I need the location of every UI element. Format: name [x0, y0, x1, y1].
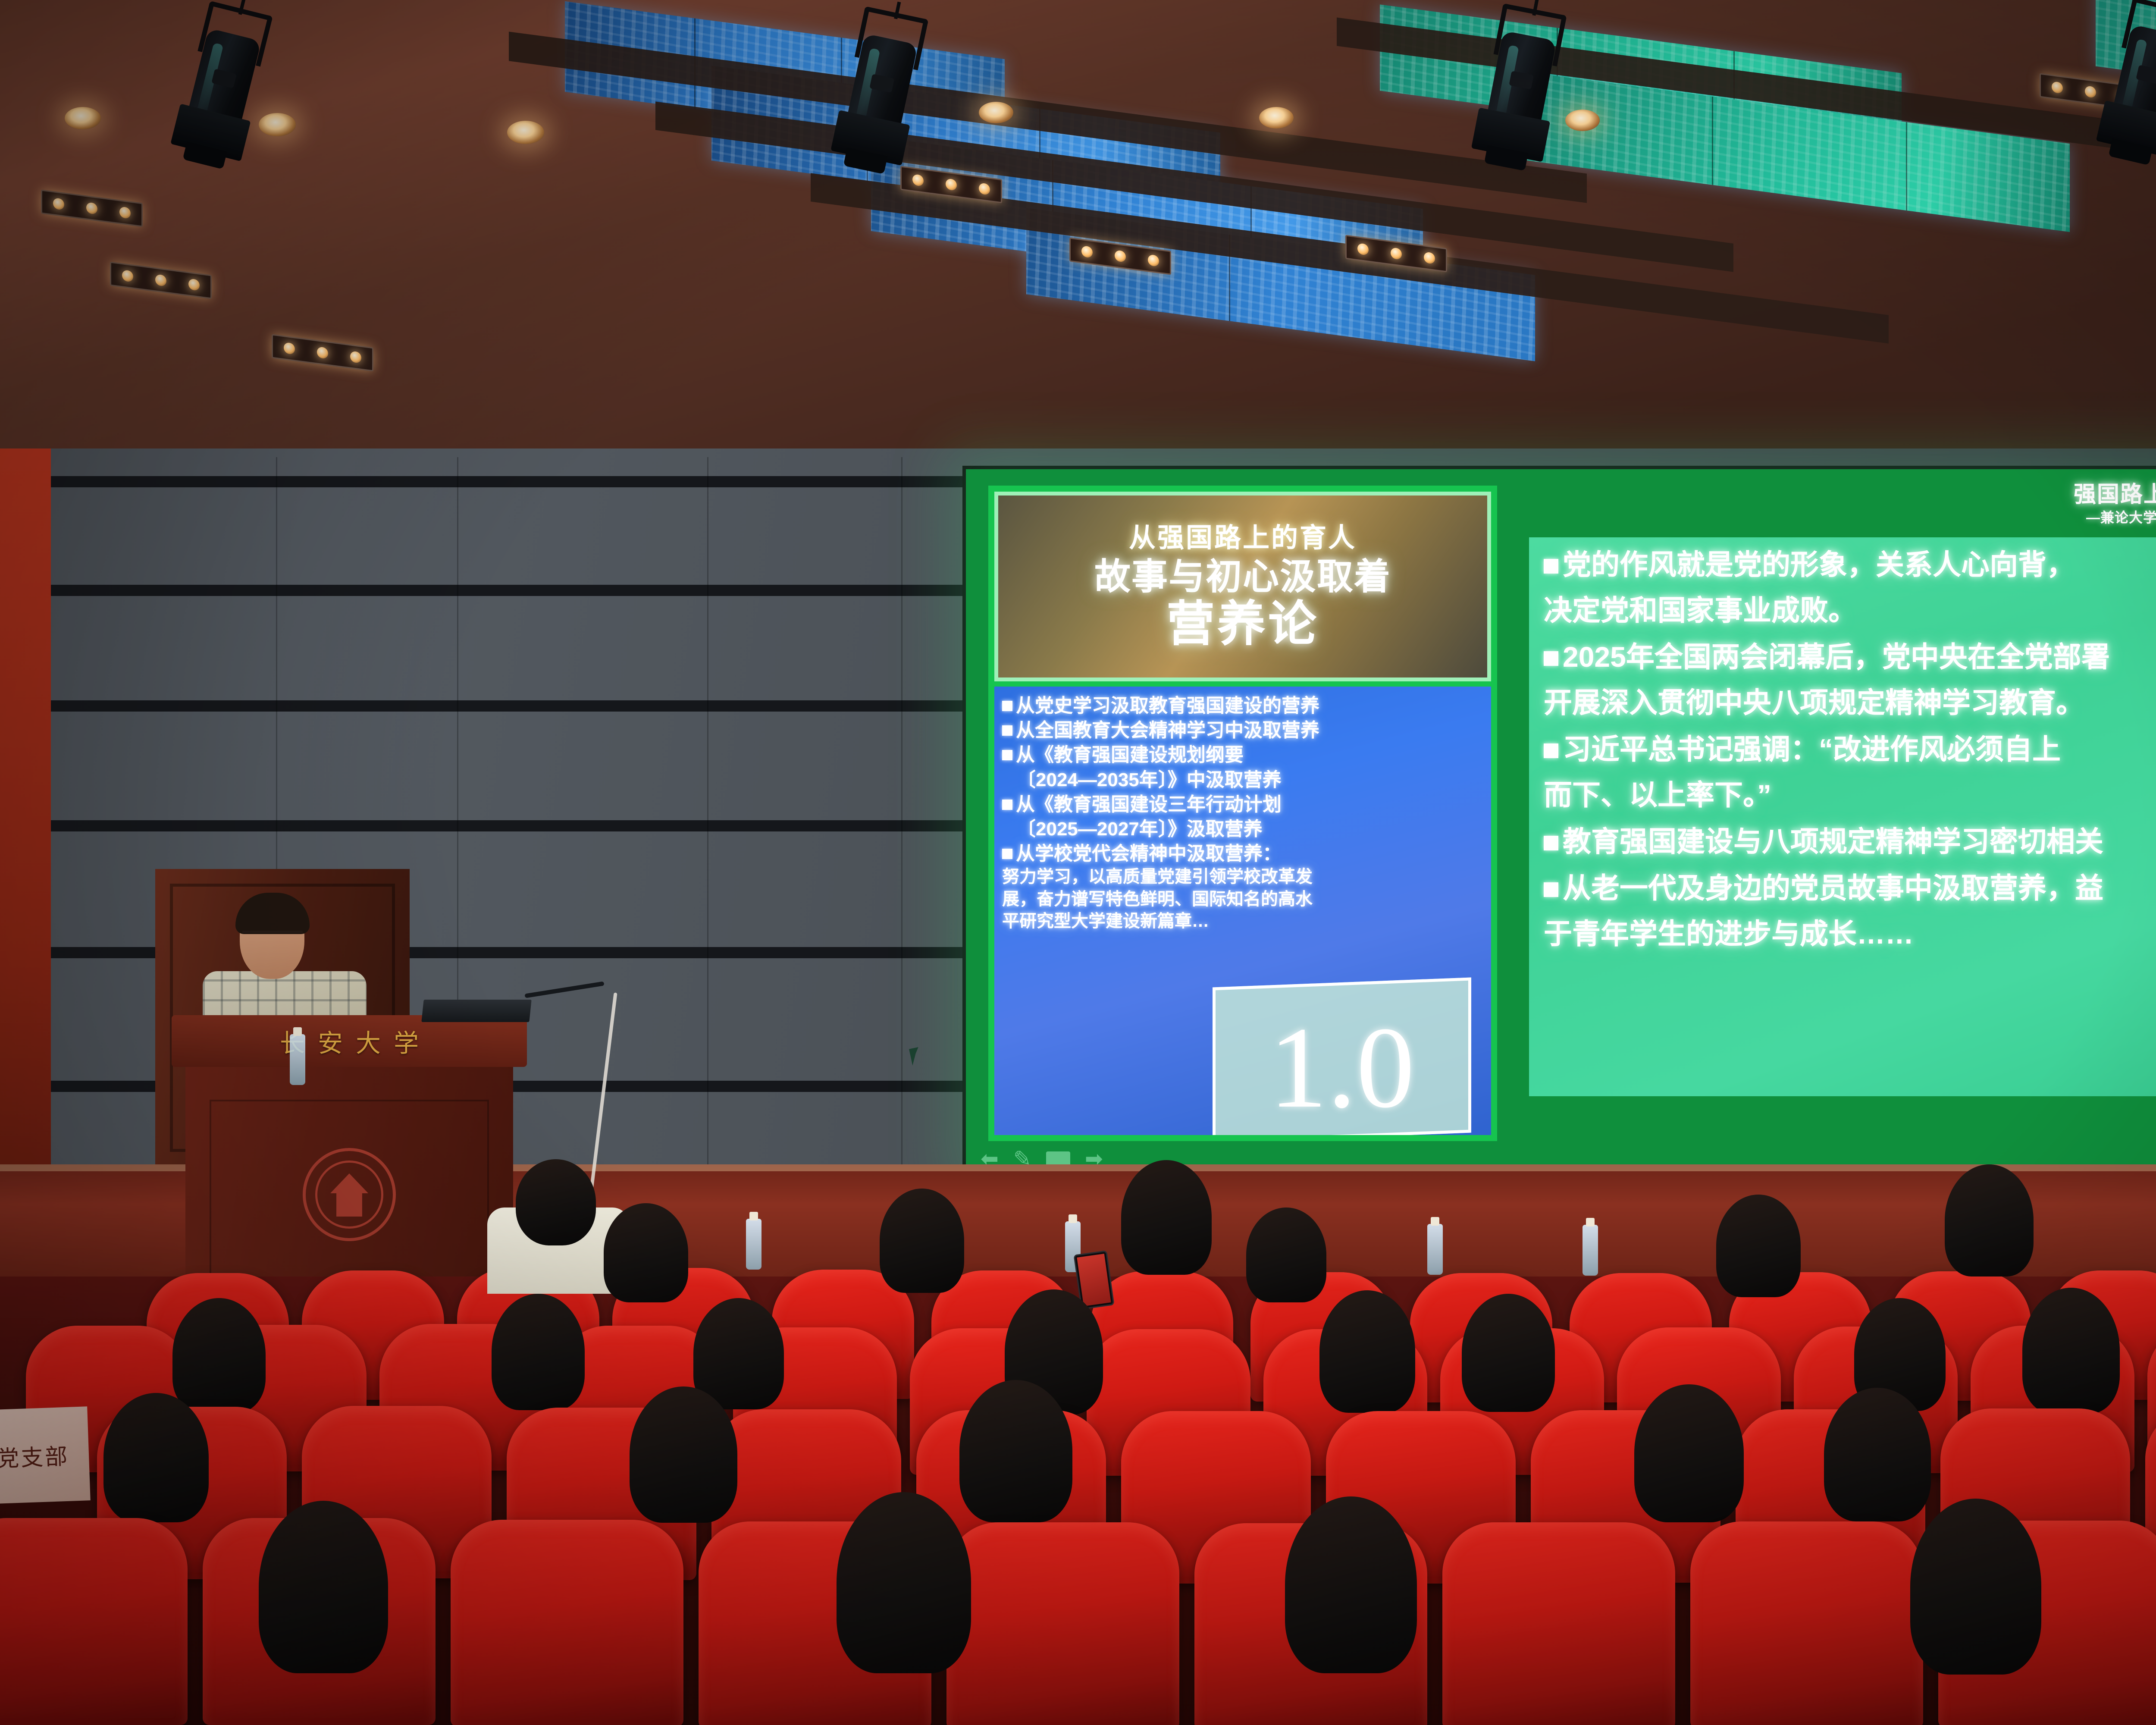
audience-head: [492, 1294, 585, 1410]
slide-right-panel: 强国路上的育人故事与长大学人 —兼论大学生如何从先辈和“五老”精神中汲取营养 党…: [1526, 474, 2156, 1172]
bullet-square-icon: [1002, 800, 1012, 810]
ceiling-recessed-spot-1: [65, 107, 101, 129]
row-sign-text: 党支部: [0, 1438, 69, 1473]
lectern: 长安大学: [185, 1035, 513, 1311]
bullet-square-icon: [1002, 701, 1012, 711]
slide-left-title-box: 从强国路上的育人 故事与初心汲取着 营养论: [994, 492, 1491, 681]
slide-left-bullet-list: 从党史学习汲取教育强国建设的营养 从全国教育大会精神学习中汲取营养 从《教育强国…: [994, 687, 1491, 1135]
audience-head: [1285, 1496, 1417, 1673]
slide-left-bullet: 从《教育强国建设三年行动计划: [1002, 792, 1483, 817]
water-bottle-stage: [746, 1219, 761, 1270]
audience-head: [516, 1159, 596, 1245]
slide-left-bullet: 从学校党代会精神中汲取营养：: [1002, 841, 1483, 866]
seat: [451, 1520, 683, 1725]
bullet-square-icon: [1544, 651, 1558, 666]
wall-seam: [707, 457, 708, 1164]
slide-left-bullet: 从全国教育大会精神学习中汲取营养: [1002, 718, 1483, 743]
audience-head: [837, 1492, 971, 1673]
audience-head: [259, 1501, 388, 1673]
slide-left-bullet-cont: 〔2025—2027年〕》汲取营养: [1002, 817, 1483, 841]
audience-head: [1824, 1388, 1931, 1521]
audience-head: [1634, 1384, 1744, 1522]
bullet-square-icon: [1544, 743, 1558, 758]
bullet-square-icon: [1002, 849, 1012, 859]
slide-right-bullet: 2025年全国两会闭幕后，党中央在全党部署 开展深入贯彻中央八项规定精神学习教育…: [1544, 643, 2156, 717]
audience-head: [103, 1393, 209, 1522]
bullet-square-icon: [1544, 882, 1558, 897]
slide-left-bullet: 从党史学习汲取教育强国建设的营养: [1002, 693, 1483, 718]
slide-left-version-badge: 1.0: [1213, 977, 1471, 1135]
audience-head: [959, 1380, 1072, 1522]
slide-left-version-text: 1.0: [1269, 1020, 1415, 1115]
slideshow-menu-icon[interactable]: [1046, 1151, 1070, 1166]
slide-right-bullet: 从老一代及身边的党员故事中汲取营养，益 于青年学生的进步与成长……: [1544, 874, 2156, 948]
audience-head: [1462, 1294, 1555, 1412]
audience-head: [1945, 1164, 2034, 1276]
slide-left-bullet-cont: 平研究型大学建设新篇章…: [1002, 910, 1483, 932]
ceiling-recessed-spot-6: [1565, 110, 1600, 131]
slide-right-header-title: 强国路上的育人故事与长大学人: [2074, 483, 2156, 507]
slide-left-bullet-cont: 〔2024—2035年〕》中汲取营养: [1002, 768, 1483, 792]
slide-right-header: 强国路上的育人故事与长大学人 —兼论大学生如何从先辈和“五老”精神中汲取营养: [2074, 483, 2156, 525]
speaker-glasses: [242, 931, 303, 942]
water-bottle-lectern: [290, 1034, 305, 1085]
slide-right-bullet: 习近平总书记强调：“改进作风必须自上 而下、以上率下。”: [1544, 735, 2156, 809]
slide-left-bullet-cont: 努力学习，以高质量党建引领学校改革发: [1002, 866, 1483, 888]
wall-seam: [901, 457, 903, 1164]
audience-head: [1716, 1195, 1801, 1297]
audience-head: [1246, 1207, 1326, 1302]
seat: [1690, 1521, 1923, 1725]
slide-right-header-subtitle: —兼论大学生如何从先辈和“五老”精神中汲取营养: [2074, 510, 2156, 525]
slide-left-panel: 从强国路上的育人 故事与初心汲取着 营养论 从党史学习汲取教育强国建设的营养 从…: [988, 486, 1497, 1141]
water-bottle-stage: [1583, 1225, 1598, 1276]
audience-head: [630, 1386, 737, 1523]
row-reserved-sign: 党支部: [0, 1406, 91, 1503]
laptop-on-lectern: [421, 1000, 531, 1022]
audience-head: [1319, 1290, 1415, 1413]
audience-head: [604, 1203, 688, 1302]
slide-left-title-line1: 从强国路上的育人: [1129, 525, 1357, 552]
ceiling-recessed-spot-4: [979, 102, 1013, 123]
ceiling-recessed-spot-2: [259, 113, 296, 136]
slide-left-title-line3: 营养论: [1166, 600, 1319, 648]
bullet-square-icon: [1002, 750, 1012, 760]
auditorium-photo: 从强国路上的育人 故事与初心汲取着 营养论 从党史学习汲取教育强国建设的营养 从…: [0, 0, 2156, 1725]
university-seal-logo: [303, 1148, 396, 1241]
seat: [946, 1522, 1179, 1725]
slide-right-bullet: 教育强国建设与八项规定精神学习密切相关: [1544, 827, 2156, 856]
slide-left-bullet: 从《教育强国建设规划纲要: [1002, 743, 1483, 767]
seat: [1442, 1522, 1675, 1725]
slide-right-bullet-list: 党的作风就是党的形象，关系人心向背， 决定党和国家事业成败。 2025年全国两会…: [1529, 537, 2156, 1096]
slide-left-bullet-cont: 展，奋力谱写特色鲜明、国际知名的高水: [1002, 888, 1483, 910]
audience-head: [1121, 1160, 1212, 1275]
audience-head: [1910, 1499, 2041, 1675]
audience-head: [880, 1189, 964, 1293]
bullet-square-icon: [1002, 725, 1012, 736]
ceiling-recessed-spot-3: [507, 121, 544, 144]
slide-left-title-line2: 故事与初心汲取着: [1094, 558, 1391, 595]
projection-screen: 从强国路上的育人 故事与初心汲取着 营养论 从党史学习汲取教育强国建设的营养 从…: [966, 469, 2156, 1176]
bullet-square-icon: [1544, 836, 1558, 850]
audience-head: [172, 1298, 266, 1413]
bullet-square-icon: [1544, 559, 1558, 574]
audience-head: [2022, 1288, 2120, 1414]
speaker-hair: [235, 893, 310, 934]
slide-right-bullet: 党的作风就是党的形象，关系人心向背， 决定党和国家事业成败。: [1544, 550, 2156, 624]
lectern-nameplate: 长安大学: [172, 1015, 527, 1067]
ceiling-recessed-spot-5: [1259, 107, 1294, 129]
audience-head: [693, 1298, 784, 1409]
water-bottle-stage: [1427, 1224, 1443, 1275]
seat: [0, 1518, 188, 1725]
